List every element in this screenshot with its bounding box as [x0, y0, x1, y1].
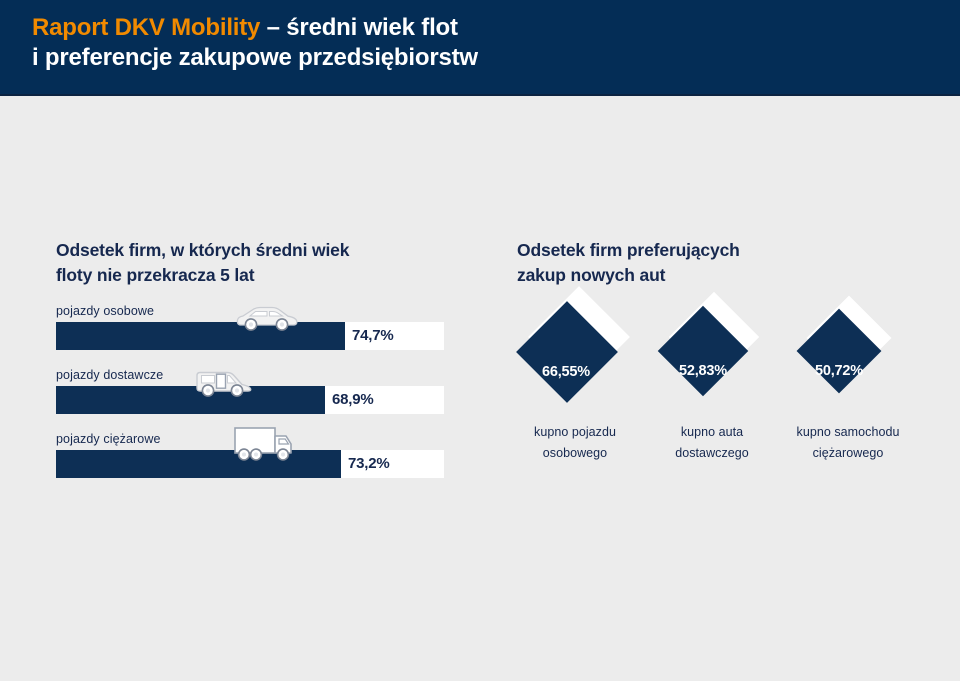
- title-line-2: i preferencje zakupowe przedsiębiorstw: [32, 44, 478, 71]
- diamond-caption: kupno auta dostawczego: [642, 422, 782, 464]
- diamond-caption-line-1: kupno auta: [681, 425, 743, 439]
- diamond-caption: kupno samochodu ciężarowego: [778, 422, 918, 464]
- diamond-value: 50,72%: [769, 363, 909, 379]
- page-title: Raport DKV Mobility – średni wiek flot i…: [32, 13, 478, 73]
- bar-fill-vans: [56, 386, 325, 414]
- diamond-caption-line-1: kupno pojazdu: [534, 425, 616, 439]
- right-title-line-1: Odsetek firm preferujących: [517, 240, 740, 260]
- bar-value-trucks: 73,2%: [348, 450, 390, 478]
- bar-label-trucks: pojazdy ciężarowe: [56, 431, 444, 447]
- diamond-caption-line-2: osobowego: [543, 446, 607, 460]
- title-rest: – średni wiek flot: [260, 14, 458, 41]
- left-title-line-1: Odsetek firm, w których średni wiek: [56, 240, 349, 260]
- diamond-caption-line-2: ciężarowego: [813, 446, 884, 460]
- left-panel-title: Odsetek firm, w których średni wiek flot…: [56, 238, 349, 288]
- diamond-chart: 66,55% kupno pojazdu osobowego 52,83% ku…: [500, 300, 940, 475]
- bar-label-vans: pojazdy dostawcze: [56, 367, 444, 383]
- bar-label-cars: pojazdy osobowe: [56, 303, 444, 319]
- diamond-caption: kupno pojazdu osobowego: [505, 422, 645, 464]
- right-panel-title: Odsetek firm preferujących zakup nowych …: [517, 238, 740, 288]
- bar-row: pojazdy dostawcze 68,9%: [56, 367, 444, 414]
- bar-row: pojazdy osobowe 74,7%: [56, 303, 444, 350]
- diamond-value: 66,55%: [496, 364, 636, 380]
- bar-track-cars: 74,7%: [56, 322, 444, 350]
- bar-value-vans: 68,9%: [332, 386, 374, 414]
- diamond-value: 52,83%: [633, 363, 773, 379]
- bar-track-trucks: 73,2%: [56, 450, 444, 478]
- bar-fill-trucks: [56, 450, 341, 478]
- diamond-caption-line-1: kupno samochodu: [797, 425, 900, 439]
- brand-name: Raport DKV Mobility: [32, 14, 260, 41]
- bar-chart: pojazdy osobowe 74,7% pojazdy dostawcze: [56, 303, 444, 495]
- header-banner: Raport DKV Mobility – średni wiek flot i…: [0, 0, 960, 96]
- left-title-line-2: floty nie przekracza 5 lat: [56, 265, 254, 285]
- bar-row: pojazdy ciężarowe 73,2%: [56, 431, 444, 478]
- right-title-line-2: zakup nowych aut: [517, 265, 665, 285]
- bar-value-cars: 74,7%: [352, 322, 394, 350]
- bar-track-vans: 68,9%: [56, 386, 444, 414]
- diamond-caption-line-2: dostawczego: [675, 446, 749, 460]
- bar-fill-cars: [56, 322, 345, 350]
